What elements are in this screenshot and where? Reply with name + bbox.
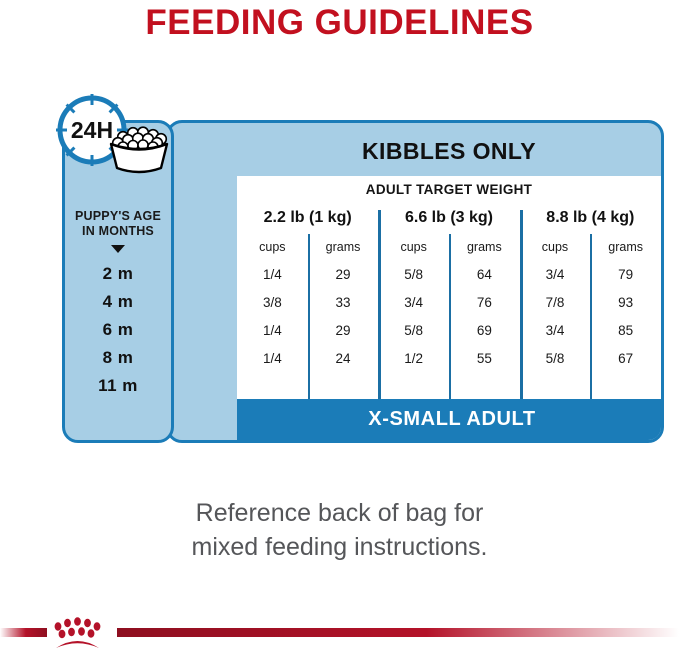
column-cups-1: cups 1/4 3/8 1/4 1/4	[237, 234, 308, 405]
weight-label-2: 6.6 lb (3 kg)	[378, 202, 519, 234]
age-list: 2 m 4 m 6 m 8 m 11 m	[65, 260, 171, 400]
table-cell: 3/4	[378, 289, 449, 317]
table-cell: 33	[308, 289, 379, 317]
x-small-adult-bar: X-SMALL ADULT	[237, 399, 664, 440]
table-cell: 3/8	[237, 289, 308, 317]
unit-label-grams-3: grams	[590, 234, 661, 261]
page-title: FEEDING GUIDELINES	[0, 3, 679, 43]
list-item: 11 m	[65, 372, 171, 400]
table-cell: 1/2	[378, 345, 449, 373]
puppy-age-line1: PUPPY'S AGE	[65, 209, 171, 224]
weight-group-2: 6.6 lb (3 kg) cups 5/8 3/4 5/8 1/2 grams…	[378, 202, 519, 405]
puppy-age-header: PUPPY'S AGE IN MONTHS	[65, 209, 171, 239]
table-cell: 76	[449, 289, 520, 317]
feeding-table: ADULT TARGET WEIGHT 2.2 lb (1 kg) cups 1…	[237, 176, 661, 405]
table-cell: 64	[449, 261, 520, 289]
column-grams-3: grams 79 93 85 67	[590, 234, 661, 405]
reference-note: Reference back of bag for mixed feeding …	[0, 496, 679, 564]
weight-label-1: 2.2 lb (1 kg)	[237, 202, 378, 234]
table-cell: 79	[590, 261, 661, 289]
table-cell: 93	[590, 289, 661, 317]
table-cell: 69	[449, 317, 520, 345]
table-cell: 5/8	[520, 345, 591, 373]
puppy-age-line2: IN MONTHS	[65, 224, 171, 239]
column-cups-3: cups 3/4 7/8 3/4 5/8	[520, 234, 591, 405]
kibble-bowl-icon	[97, 122, 181, 178]
kibbles-only-header: KIBBLES ONLY	[169, 123, 661, 176]
table-cell: 5/8	[378, 261, 449, 289]
adult-target-weight-label: ADULT TARGET WEIGHT	[237, 176, 661, 202]
unit-label-grams-1: grams	[308, 234, 379, 261]
reference-note-line1: Reference back of bag for	[0, 496, 679, 530]
table-cell: 55	[449, 345, 520, 373]
table-cell: 3/4	[520, 261, 591, 289]
table-cell: 3/4	[520, 317, 591, 345]
table-cell: 29	[308, 261, 379, 289]
unit-label-cups-3: cups	[520, 234, 591, 261]
kibbles-panel: KIBBLES ONLY ADULT TARGET WEIGHT 2.2 lb …	[166, 120, 664, 443]
chevron-down-icon	[111, 245, 125, 253]
list-item: 8 m	[65, 344, 171, 372]
reference-note-line2: mixed feeding instructions.	[0, 530, 679, 564]
unit-label-cups-1: cups	[237, 234, 308, 261]
column-grams-2: grams 64 76 69 55	[449, 234, 520, 405]
brand-footer	[0, 600, 679, 650]
weight-group-1: 2.2 lb (1 kg) cups 1/4 3/8 1/4 1/4 grams…	[237, 202, 378, 405]
table-cell: 7/8	[520, 289, 591, 317]
weight-group-3: 8.8 lb (4 kg) cups 3/4 7/8 3/4 5/8 grams…	[520, 202, 661, 405]
column-grams-1: grams 29 33 29 24	[308, 234, 379, 405]
unit-label-grams-2: grams	[449, 234, 520, 261]
royal-canin-crown-logo	[55, 617, 101, 648]
unit-label-cups-2: cups	[378, 234, 449, 261]
column-cups-2: cups 5/8 3/4 5/8 1/2	[378, 234, 449, 405]
table-cell: 1/4	[237, 261, 308, 289]
table-cell: 5/8	[378, 317, 449, 345]
table-cell: 67	[590, 345, 661, 373]
table-cell: 1/4	[237, 345, 308, 373]
weight-groups: 2.2 lb (1 kg) cups 1/4 3/8 1/4 1/4 grams…	[237, 202, 661, 405]
table-cell: 24	[308, 345, 379, 373]
list-item: 4 m	[65, 288, 171, 316]
table-cell: 1/4	[237, 317, 308, 345]
weight-label-3: 8.8 lb (4 kg)	[520, 202, 661, 234]
list-item: 6 m	[65, 316, 171, 344]
table-cell: 29	[308, 317, 379, 345]
list-item: 2 m	[65, 260, 171, 288]
table-cell: 85	[590, 317, 661, 345]
